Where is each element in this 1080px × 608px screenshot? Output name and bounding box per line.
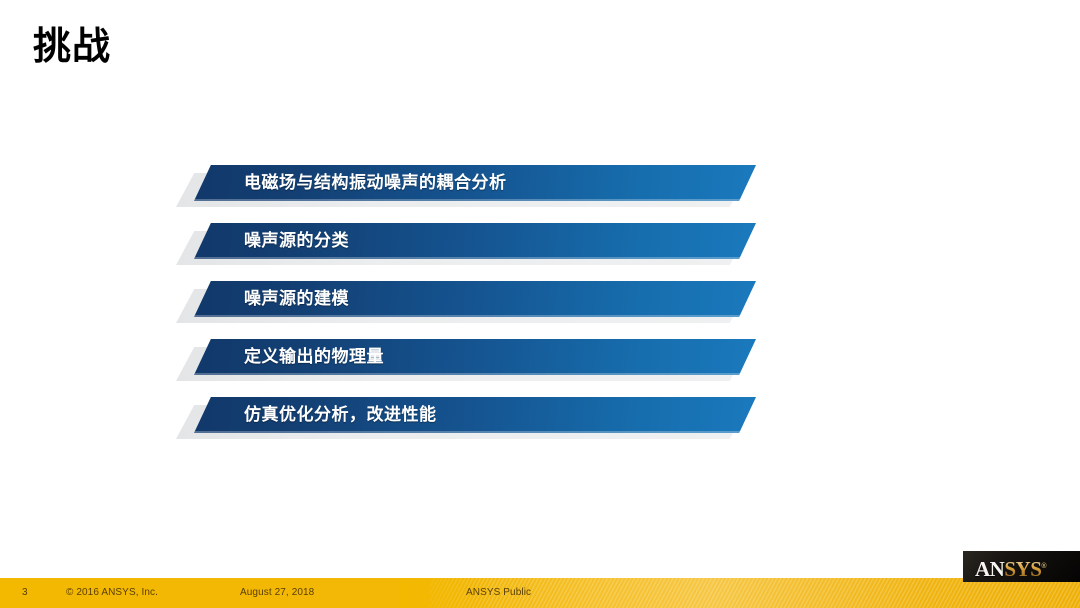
- slide-footer: 3 © 2016 ANSYS, Inc. August 27, 2018 ANS…: [0, 578, 1080, 608]
- banner-item-3[interactable]: 噪声源的建模: [176, 281, 756, 331]
- ansys-logo: ANSYS®: [963, 551, 1080, 582]
- trademark-icon: ®: [1041, 563, 1046, 570]
- slide-number: 3: [22, 578, 28, 608]
- copyright-text: © 2016 ANSYS, Inc.: [66, 578, 158, 608]
- date-text: August 27, 2018: [240, 578, 314, 608]
- banner-item-1[interactable]: 电磁场与结构振动噪声的耦合分析: [176, 165, 756, 215]
- banner-list: 电磁场与结构振动噪声的耦合分析 噪声源的分类 噪声源的建模 定义输出的物理量 仿…: [0, 0, 1080, 608]
- banner-item-5[interactable]: 仿真优化分析，改进性能: [176, 397, 756, 447]
- banner-label: 仿真优化分析，改进性能: [244, 397, 437, 433]
- classification-text: ANSYS Public: [466, 578, 531, 608]
- banner-label: 定义输出的物理量: [244, 339, 384, 375]
- banner-label: 噪声源的分类: [244, 223, 349, 259]
- banner-label: 电磁场与结构振动噪声的耦合分析: [244, 165, 507, 201]
- banner-item-4[interactable]: 定义输出的物理量: [176, 339, 756, 389]
- slide-canvas: 挑战 电磁场与结构振动噪声的耦合分析 噪声源的分类 噪声源的建模 定义输出的物理…: [0, 0, 1080, 608]
- ansys-logo-text: ANSYS®: [975, 551, 1046, 582]
- ansys-logo-sys: SYS: [1004, 557, 1041, 581]
- banner-item-2[interactable]: 噪声源的分类: [176, 223, 756, 273]
- ansys-logo-an: AN: [975, 557, 1004, 581]
- banner-label: 噪声源的建模: [244, 281, 349, 317]
